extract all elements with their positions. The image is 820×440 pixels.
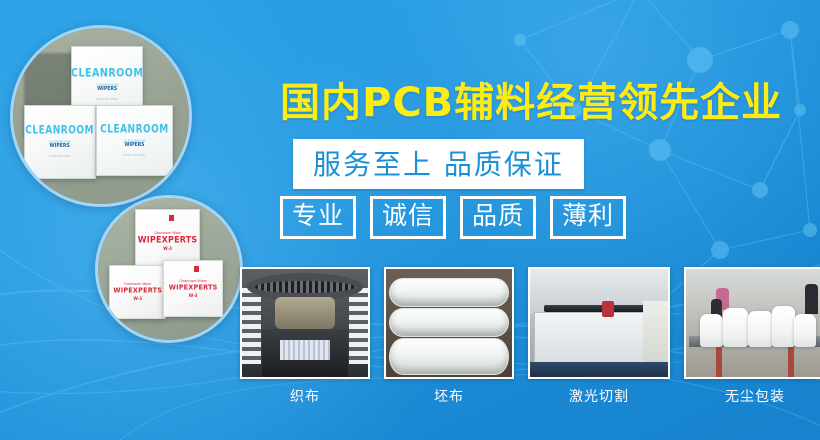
pack-type-label: WIPERS xyxy=(124,142,144,148)
pack-brand-label: CLEANROOM xyxy=(71,66,143,80)
banner-subtitle-bar: 服务至上 品质保证 xyxy=(293,139,584,189)
cleanroom-pack: CLEANROOM CLEANROOM WIPERS MADE IN CHINA xyxy=(24,105,96,179)
table-leg xyxy=(788,347,794,377)
cleanroom-wipes-photo: CLEANROOM CLEANROOM WIPERS MADE IN CHINA… xyxy=(13,28,189,204)
fabric-roll xyxy=(389,308,510,337)
product-circle-cleanroom: CLEANROOM CLEANROOM WIPERS MADE IN CHINA… xyxy=(10,25,192,207)
box-logo-label: W-3 xyxy=(163,246,172,251)
wipexperts-box: Cleanroom Wiper WIPEXPERTS W-3 xyxy=(109,265,166,319)
box-logo-label: W-3 xyxy=(189,293,198,298)
packed-bundle xyxy=(794,314,816,346)
packed-bundle xyxy=(700,314,723,346)
pack-brand-label: CLEANROOM xyxy=(100,123,169,136)
yarn-rack-right xyxy=(349,288,368,364)
process-thumb-weaving xyxy=(240,267,370,379)
keyword-box-quality: 品质 xyxy=(460,196,536,239)
keyword-box-integrity: 诚信 xyxy=(370,196,446,239)
cleanroom-pack: CLEANROOM CLEANROOM WIPERS MADE IN CHINA xyxy=(96,105,173,175)
laser-gantry xyxy=(544,305,657,313)
process-photo-item: 无尘包装 xyxy=(684,267,820,406)
yarn-rack-left xyxy=(242,288,261,364)
fabric-rolls-art xyxy=(386,269,512,377)
laser-cutter-art xyxy=(530,269,668,377)
machine-drum xyxy=(275,297,335,329)
keyword-box-group: 专业 诚信 品质 薄利 xyxy=(280,196,626,239)
box-brand-label: WIPEXPERTS xyxy=(169,283,218,292)
pack-footer-label: MADE IN CHINA xyxy=(96,97,118,101)
packed-bundle xyxy=(772,306,795,347)
wipexperts-box: Cleanroom Wiper WIPEXPERTS W-3 xyxy=(163,260,223,317)
keyword-box-low-margin: 薄利 xyxy=(550,196,626,239)
pack-type-label: WIPERS xyxy=(97,87,117,93)
box-brand-label: WIPEXPERTS xyxy=(113,286,162,295)
keyword-box-professional: 专业 xyxy=(280,196,356,239)
promo-banner: CLEANROOM CLEANROOM WIPERS MADE IN CHINA… xyxy=(0,0,820,440)
packed-bundle xyxy=(748,311,773,347)
fabric-roll xyxy=(389,338,510,375)
laser-head xyxy=(602,301,614,316)
pack-brand-label: CLEANROOM xyxy=(25,125,94,138)
cleanroom-packing-art xyxy=(686,269,820,377)
packed-bundle xyxy=(723,308,748,347)
process-thumb-cleanroom-packing xyxy=(684,267,820,379)
fabric-output xyxy=(280,340,330,359)
process-thumb-greige-cloth xyxy=(384,267,514,379)
box-brand-label: WIPEXPERTS xyxy=(138,234,198,244)
process-caption-cleanroom-packing: 无尘包装 xyxy=(725,386,785,406)
process-photo-item: 坯布 xyxy=(384,267,514,406)
process-photo-strip: 织布 坯布 xyxy=(240,267,820,406)
box-seal-icon xyxy=(194,266,199,272)
wipexperts-boxes-photo: Cleanroom Wiper WIPEXPERTS W-3 Cleanroom… xyxy=(98,198,240,340)
pack-footer-label: MADE IN CHINA xyxy=(49,154,71,158)
machine-frame xyxy=(530,362,668,377)
banner-subtitle-text: 服务至上 品质保证 xyxy=(313,143,564,183)
box-seal-icon xyxy=(169,215,174,221)
process-caption-weaving: 织布 xyxy=(290,386,320,406)
cutting-bed xyxy=(534,312,644,368)
worker-figure xyxy=(805,284,819,314)
process-caption-greige-cloth: 坯布 xyxy=(434,386,464,406)
box-logo-label: W-3 xyxy=(133,296,142,301)
pack-type-label: WIPERS xyxy=(50,144,70,150)
process-photo-item: 激光切割 xyxy=(528,267,670,406)
pack-footer-label: MADE IN CHINA xyxy=(124,153,146,157)
knitting-machine-art xyxy=(242,269,368,377)
process-caption-laser-cutting: 激光切割 xyxy=(569,386,629,406)
product-circle-wipexperts: Cleanroom Wiper WIPEXPERTS W-3 Cleanroom… xyxy=(95,195,243,343)
process-photo-item: 织布 xyxy=(240,267,370,406)
banner-headline: 国内PCB辅料经营领先企业 xyxy=(280,70,782,128)
process-thumb-laser-cutting xyxy=(528,267,670,379)
fabric-roll xyxy=(389,278,510,307)
table-leg xyxy=(716,347,722,377)
